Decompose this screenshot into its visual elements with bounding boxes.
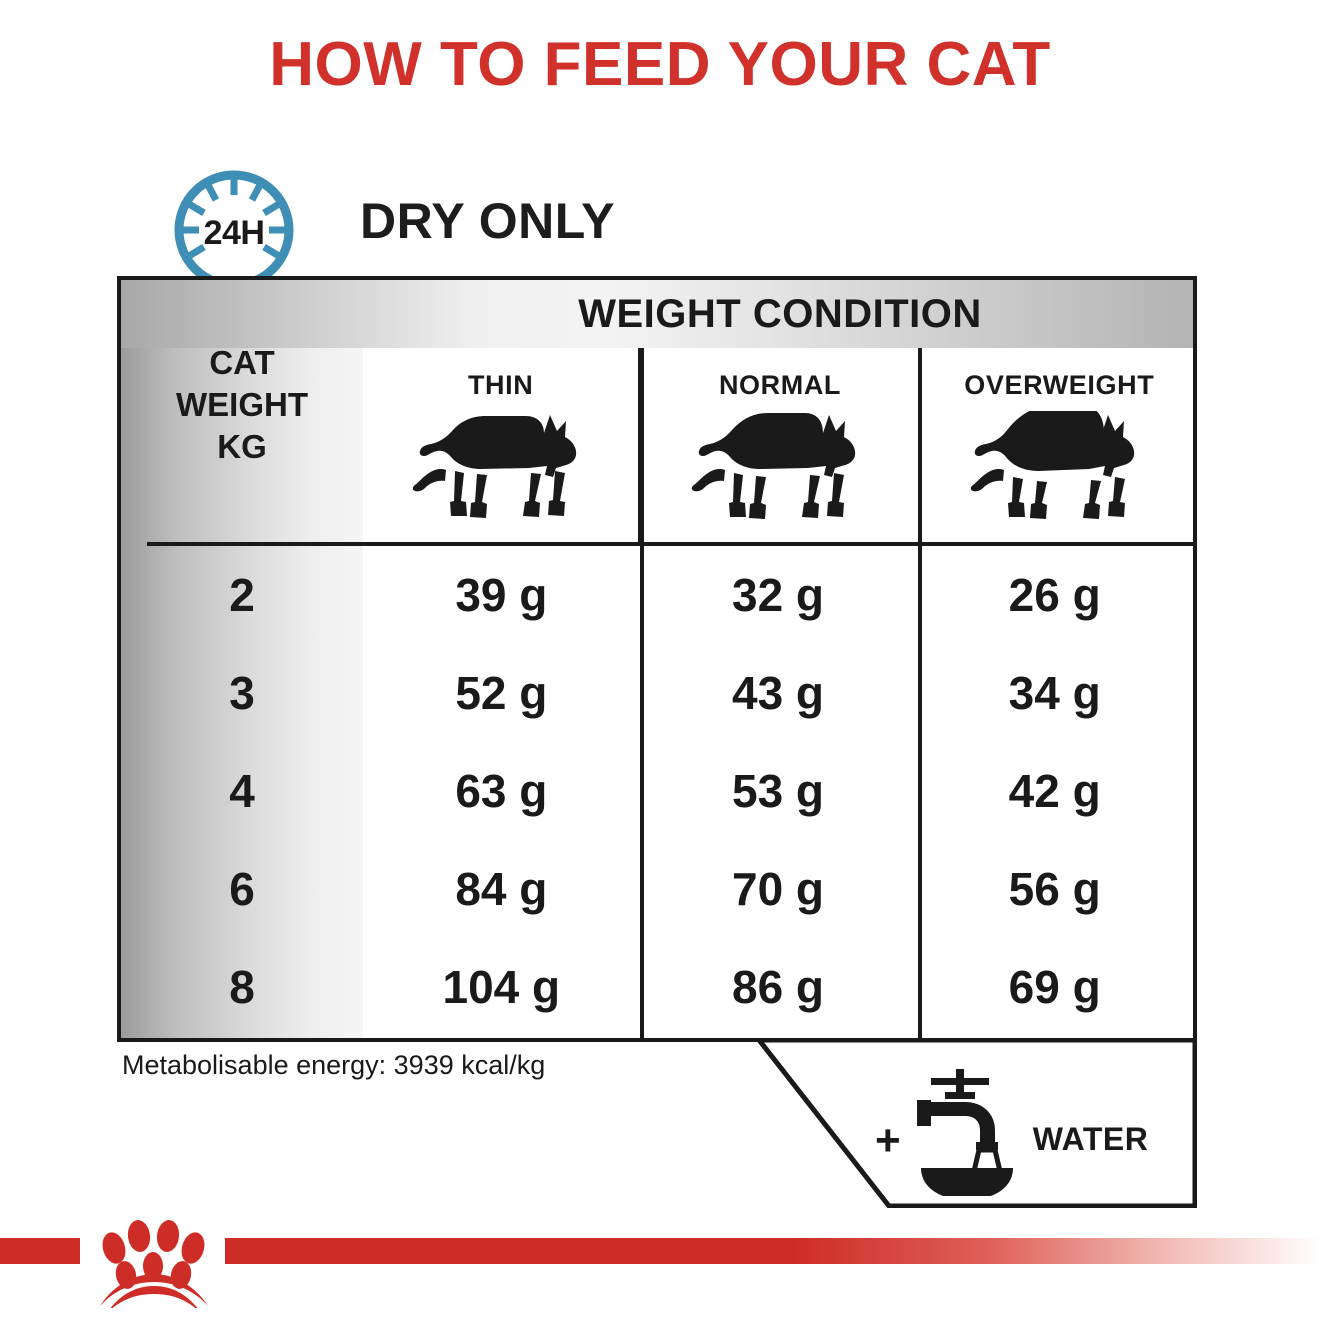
cell-normal: 86 g <box>640 960 917 1014</box>
cell-overweight: 34 g <box>916 666 1193 720</box>
cat-weight-header-line2: WEIGHT <box>121 384 363 426</box>
table-row: 8 104 g 86 g 69 g <box>121 938 1193 1036</box>
table-row: 3 52 g 43 g 34 g <box>121 644 1193 742</box>
cat-weight-header-line1: CAT <box>121 342 363 384</box>
cell-thin: 39 g <box>363 568 640 622</box>
cat-weight-header: CAT WEIGHT KG <box>121 342 363 469</box>
cat-normal-icon <box>690 411 870 529</box>
cell-normal: 53 g <box>640 764 917 818</box>
royal-canin-paw-logo <box>80 1218 230 1308</box>
water-panel: + WATER <box>757 1038 1197 1208</box>
table-row: 6 84 g 70 g 56 g <box>121 840 1193 938</box>
cat-overweight-icon <box>969 411 1149 529</box>
water-content: + WATER <box>875 1064 1148 1196</box>
cell-overweight: 56 g <box>916 862 1193 916</box>
brand-bar-left <box>0 1238 80 1264</box>
cell-thin: 63 g <box>363 764 640 818</box>
cell-overweight: 42 g <box>916 764 1193 818</box>
feeding-table: WEIGHT CONDITION CAT WEIGHT KG THIN <box>117 276 1197 1042</box>
condition-column-thin: THIN <box>363 348 638 544</box>
page-title: HOW TO FEED YOUR CAT <box>0 34 1320 96</box>
cell-normal: 43 g <box>640 666 917 720</box>
cell-thin: 52 g <box>363 666 640 720</box>
water-label: WATER <box>1033 1121 1149 1158</box>
condition-headers: THIN NORMAL <box>363 348 1197 544</box>
condition-column-overweight: OVERWEIGHT <box>918 348 1197 544</box>
condition-label-thin: THIN <box>468 370 533 401</box>
metabolisable-energy-note: Metabolisable energy: 3939 kcal/kg <box>122 1050 545 1081</box>
cat-weight-header-line3: KG <box>121 426 363 468</box>
cell-cat-weight: 4 <box>121 764 363 818</box>
cell-cat-weight: 6 <box>121 862 363 916</box>
table-body: 2 39 g 32 g 26 g 3 52 g 43 g 34 g 4 63 g… <box>121 546 1193 1036</box>
cell-overweight: 26 g <box>916 568 1193 622</box>
cell-cat-weight: 3 <box>121 666 363 720</box>
table-row: 2 39 g 32 g 26 g <box>121 546 1193 644</box>
clock-badge-label: 24H <box>158 214 310 253</box>
section-heading: DRY ONLY <box>360 192 615 250</box>
condition-label-normal: NORMAL <box>719 370 841 401</box>
table-row: 4 63 g 53 g 42 g <box>121 742 1193 840</box>
weight-condition-header: WEIGHT CONDITION <box>363 280 1197 348</box>
cat-thin-icon <box>411 411 591 529</box>
condition-column-normal: NORMAL <box>638 348 917 544</box>
brand-bar-right <box>225 1238 1320 1264</box>
cell-thin: 84 g <box>363 862 640 916</box>
cell-cat-weight: 2 <box>121 568 363 622</box>
cell-normal: 70 g <box>640 862 917 916</box>
cell-cat-weight: 8 <box>121 960 363 1014</box>
clock-24h-icon: 24H <box>158 168 310 280</box>
cell-overweight: 69 g <box>916 960 1193 1014</box>
cell-normal: 32 g <box>640 568 917 622</box>
cell-thin: 104 g <box>363 960 640 1014</box>
tap-bowl-icon <box>915 1064 1019 1196</box>
condition-label-overweight: OVERWEIGHT <box>964 370 1154 401</box>
plus-icon: + <box>875 1119 901 1163</box>
